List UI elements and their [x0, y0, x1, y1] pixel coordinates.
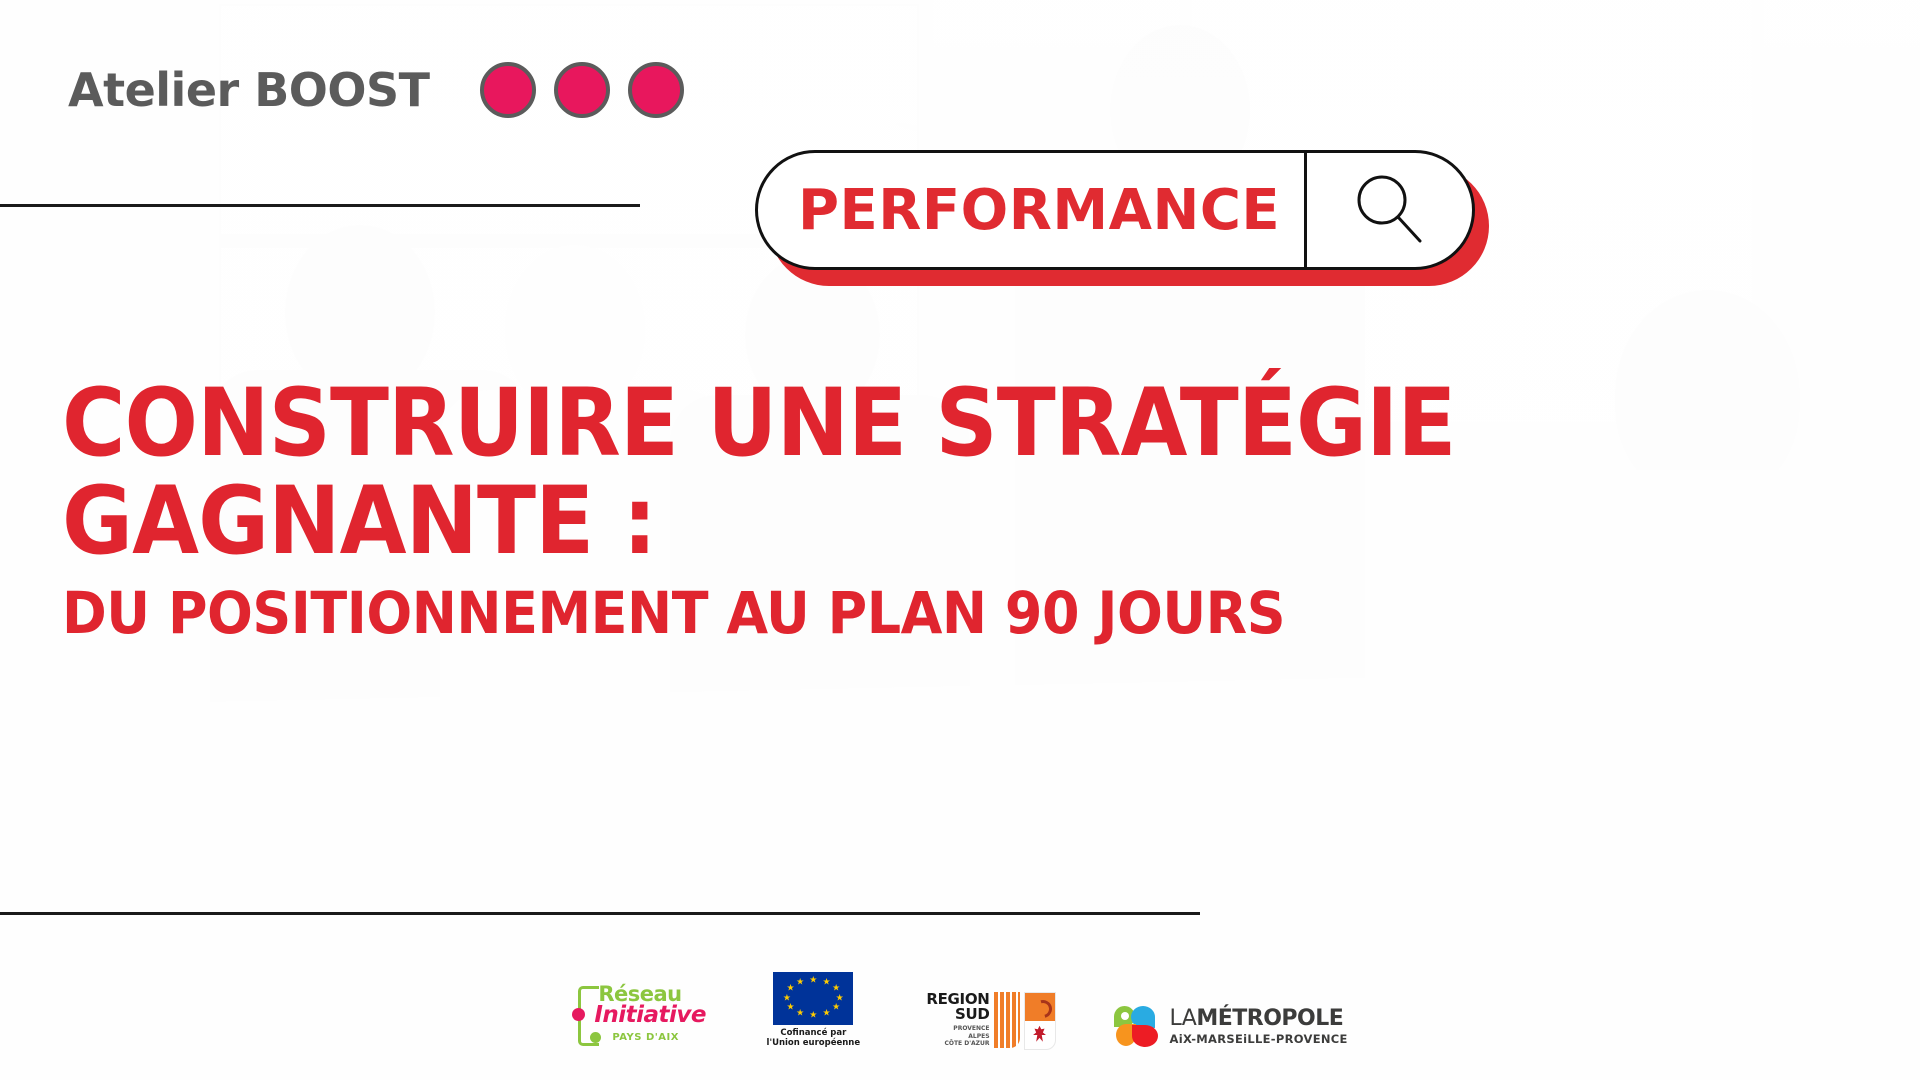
header: Atelier BOOST [68, 62, 684, 118]
title-subtitle: DU POSITIONNEMENT AU PLAN 90 JOURS [62, 584, 1364, 642]
dot-icon [480, 62, 536, 118]
logo-region-sud: REGION SUD PROVENCE ALPES CÔTE D'AZUR [926, 992, 1055, 1048]
footer-logo-strip: Réseau Initiative PAYS D'AIX ★ ★ ★ ★ ★ ★… [0, 972, 1920, 1048]
title-block: CONSTRUIRE UNE STRATÉGIE GAGNANTE : DU P… [62, 378, 1462, 642]
metropole-text-subline: AiX-MARSEiLLE-PROVENCE [1170, 1032, 1348, 1046]
title-line-2: GAGNANTE : [62, 476, 1350, 568]
divider-top [0, 204, 640, 207]
dot-icon [628, 62, 684, 118]
title-line-1: CONSTRUIRE UNE STRATÉGIE [62, 378, 1350, 470]
region-sud-line-2: SUD [955, 1007, 990, 1023]
eu-caption-line-2: l'Union européenne [758, 1038, 868, 1048]
dot-group [480, 62, 684, 118]
region-sud-sub-1: PROVENCE [944, 1025, 989, 1033]
metropole-mark-icon [1114, 1006, 1162, 1048]
search-bar[interactable]: PERFORMANCE [755, 150, 1475, 270]
metropole-text-la: LA [1170, 1006, 1197, 1031]
region-sud-sub-3: CÔTE D'AZUR [944, 1040, 989, 1048]
dot-shape-green [590, 1032, 601, 1043]
region-sud-stripes-icon [994, 992, 1020, 1048]
logo-text-initiative: Initiative [594, 1002, 706, 1028]
dot-icon [554, 62, 610, 118]
eu-flag-icon: ★ ★ ★ ★ ★ ★ ★ ★ ★ ★ ★ ★ [773, 972, 853, 1025]
logo-la-metropole: LAMÉTROPOLE AiX-MARSEiLLE-PROVENCE [1114, 1006, 1348, 1048]
logo-reseau-initiative: Réseau Initiative PAYS D'AIX [572, 982, 700, 1048]
eu-caption: Cofinancé par l'Union européenne [758, 1028, 868, 1048]
slide-root: Atelier BOOST PERFORMANCE CONSTRUIRE UNE… [0, 0, 1920, 1080]
search-input[interactable]: PERFORMANCE [758, 153, 1304, 267]
page-title: Atelier BOOST [68, 63, 430, 117]
logo-union-europeenne: ★ ★ ★ ★ ★ ★ ★ ★ ★ ★ ★ ★ Cofinancé par l'… [758, 972, 868, 1048]
divider-bottom [0, 912, 1200, 915]
eu-caption-line-1: Cofinancé par [758, 1028, 868, 1038]
search-button[interactable] [1307, 153, 1472, 267]
region-sud-sub-2: ALPES [944, 1033, 989, 1041]
logo-text-pays-daix: PAYS D'AIX [612, 1032, 679, 1043]
search-icon [1344, 164, 1436, 256]
metropole-text-metropole: MÉTROPOLE [1196, 1006, 1343, 1031]
region-sud-crest-icon [1024, 992, 1056, 1050]
search-bar-body[interactable]: PERFORMANCE [755, 150, 1475, 270]
